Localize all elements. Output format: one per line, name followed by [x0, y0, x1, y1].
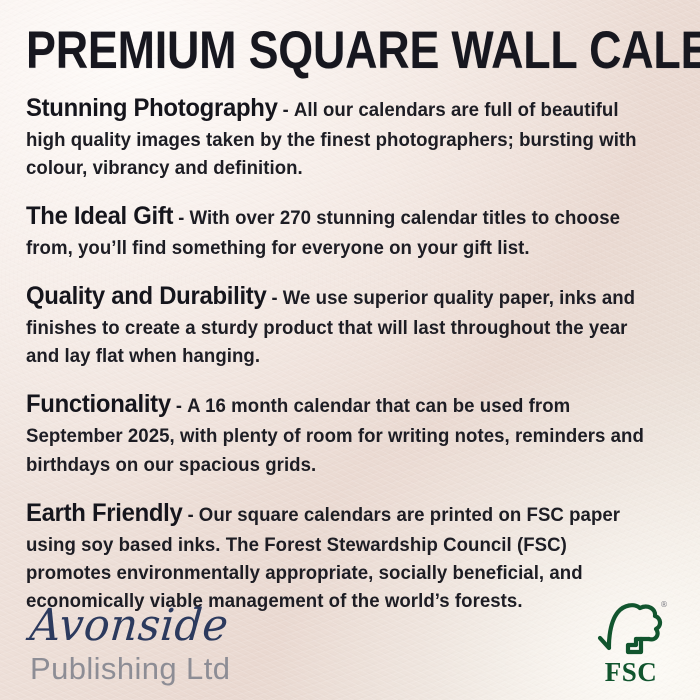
- feature-separator: -: [278, 100, 294, 121]
- list-item: Quality and Durability - We use superior…: [26, 278, 674, 370]
- poster-canvas: PREMIUM SQUARE WALL CALENDARS Stunning P…: [0, 0, 700, 700]
- feature-paragraph: Stunning Photography - All our calendars…: [26, 90, 645, 182]
- feature-paragraph: The Ideal Gift - With over 270 stunning …: [26, 198, 645, 262]
- feature-list: Stunning Photography - All our calendars…: [26, 78, 674, 615]
- fsc-certification-mark: ® FSC: [594, 598, 668, 700]
- registered-trademark-symbol: ®: [660, 600, 668, 609]
- feature-paragraph: Functionality - A 16 month calendar that…: [26, 386, 645, 478]
- brand-subtitle: Publishing Ltd: [30, 653, 230, 686]
- feature-separator: -: [183, 505, 199, 526]
- feature-separator: -: [173, 208, 189, 229]
- feature-heading: The Ideal Gift: [26, 202, 173, 230]
- fsc-label: FSC: [605, 659, 658, 686]
- feature-heading: Stunning Photography: [26, 94, 278, 122]
- feature-heading: Quality and Durability: [26, 282, 266, 310]
- brand-logo: Avonside Publishing Ltd: [28, 604, 233, 700]
- feature-separator: -: [171, 396, 187, 417]
- feature-separator: -: [266, 288, 282, 309]
- feature-heading: Earth Friendly: [26, 499, 183, 527]
- brand-name: Avonside: [28, 604, 230, 648]
- feature-paragraph: Quality and Durability - We use superior…: [26, 278, 645, 370]
- feature-heading: Functionality: [26, 390, 171, 418]
- page-title: PREMIUM SQUARE WALL CALENDARS: [26, 0, 574, 78]
- list-item: The Ideal Gift - With over 270 stunning …: [26, 198, 674, 262]
- fsc-tree-checkmark-icon: ®: [594, 598, 668, 658]
- poster-footer: Avonside Publishing Ltd ® FSC: [0, 580, 700, 700]
- list-item: Stunning Photography - All our calendars…: [26, 90, 674, 182]
- list-item: Functionality - A 16 month calendar that…: [26, 386, 674, 478]
